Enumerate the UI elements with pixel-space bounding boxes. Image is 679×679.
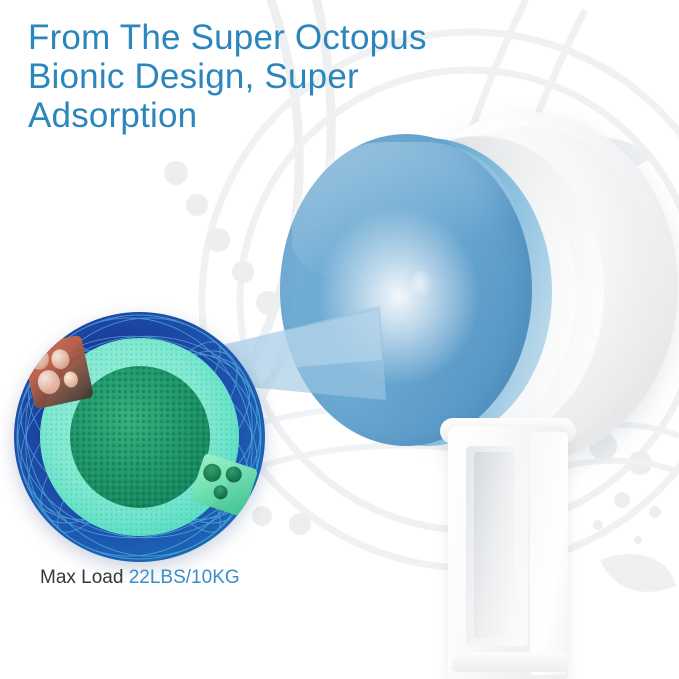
stem-bottom-lip [452, 652, 568, 672]
max-load-value: 22LBS/10KG [129, 567, 240, 588]
suction-cup-gloss-highlight [292, 142, 518, 292]
stem-side-rail [530, 432, 568, 675]
octopus-sucker-photo-patch [22, 334, 94, 409]
max-load-caption: Max Load 22LBS/10KG [40, 566, 340, 590]
bionic-structure-inset [14, 312, 265, 562]
max-load-label: Max Load [40, 567, 123, 588]
stem-slot-inner [474, 452, 514, 638]
product-image-canvas: From The Super Octopus Bionic Design, Su… [0, 0, 679, 679]
